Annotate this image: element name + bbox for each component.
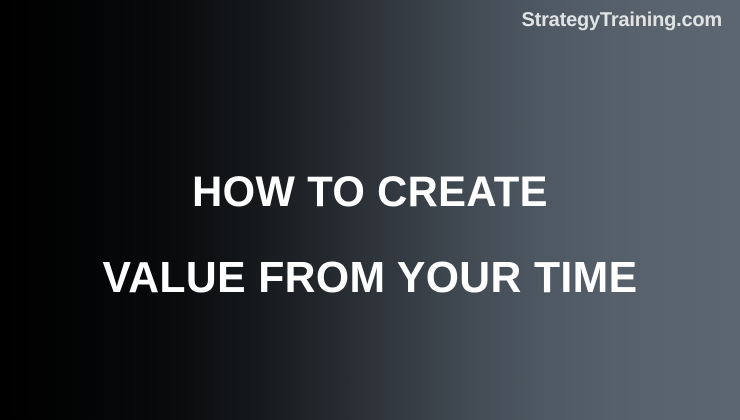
headline-line-1: HOW TO CREATE xyxy=(11,150,729,235)
headline-block: HOW TO CREATE VALUE FROM YOUR TIME xyxy=(0,150,740,320)
title-slide: StrategyTraining.com HOW TO CREATE VALUE… xyxy=(0,0,740,420)
brand-wordmark: StrategyTraining.com xyxy=(522,9,723,32)
headline-line-2: VALUE FROM YOUR TIME xyxy=(11,235,729,320)
